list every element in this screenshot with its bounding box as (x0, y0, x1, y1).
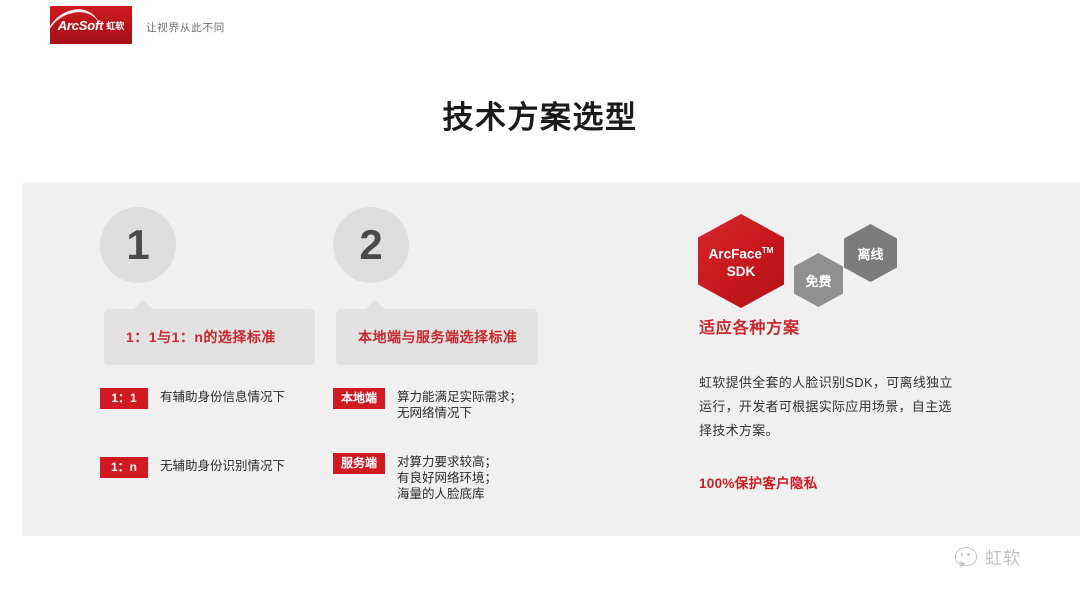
watermark-label: 虹软 (985, 544, 1021, 569)
hexagon-offline-label: 离线 (857, 244, 883, 263)
callout-box-1: 1：1与1：n的选择标准 (104, 309, 315, 365)
page-title: 技术方案选型 (0, 92, 1080, 137)
hexagon-sdk-line1: ArcFace (709, 247, 762, 262)
slide-header: ArcSoft 虹软 让视界从此不同 (0, 0, 1080, 56)
trademark-icon: TM (762, 246, 774, 255)
callout-box-2: 本地端与服务端选择标准 (336, 309, 538, 365)
privacy-note: 100%保护客户隐私 (699, 472, 818, 492)
right-body-text: 虹软提供全套的人脸识别SDK，可离线独立 运行，开发者可根据实际应用场景，自主选… (699, 371, 1004, 443)
callout-label-1: 1：1与1：n的选择标准 (104, 327, 276, 347)
callout-arrow-2 (364, 300, 386, 310)
criteria-text: 无辅助身份识别情况下 (160, 457, 285, 474)
criteria-text: 有辅助身份信息情况下 (160, 388, 285, 405)
company-tagline: 让视界从此不同 (146, 20, 225, 35)
criteria-badge: 服务端 (333, 453, 385, 474)
step-number-circle-1: 1 (100, 207, 176, 283)
criteria-row: 服务端 对算力要求较高； 有良好网络环境； 海量的人脸底库 (333, 453, 497, 502)
callout-arrow-1 (132, 300, 154, 310)
criteria-badge: 1：1 (100, 388, 148, 409)
slide-root: ArcSoft 虹软 让视界从此不同 技术方案选型 1 1：1与1：n的选择标准… (0, 0, 1080, 614)
step-number-circle-2: 2 (333, 207, 409, 283)
logo-chinese-name: 虹软 (106, 19, 124, 32)
logo-wordmark: ArcSoft (58, 18, 104, 33)
callout-label-2: 本地端与服务端选择标准 (336, 327, 518, 347)
step-number-1: 1 (126, 224, 149, 266)
criteria-badge: 1：n (100, 457, 148, 478)
wechat-icon (955, 547, 977, 566)
criteria-text: 算力能满足实际需求； 无网络情况下 (397, 388, 522, 421)
hexagon-sdk-label: ArcFaceTM SDK (709, 242, 774, 280)
right-heading: 适应各种方案 (699, 314, 800, 338)
criteria-text: 对算力要求较高； 有良好网络环境； 海量的人脸底库 (397, 453, 497, 502)
criteria-row: 本地端 算力能满足实际需求； 无网络情况下 (333, 388, 522, 421)
wechat-tail-icon (957, 561, 966, 569)
hexagon-free-label: 免费 (805, 271, 831, 290)
criteria-badge: 本地端 (333, 388, 385, 409)
wechat-watermark: 虹软 (955, 544, 1021, 569)
criteria-row: 1：1 有辅助身份信息情况下 (100, 388, 285, 409)
hexagon-sdk-line2: SDK (727, 264, 756, 279)
criteria-row: 1：n 无辅助身份识别情况下 (100, 457, 285, 478)
arcsoft-logo: ArcSoft 虹软 (50, 6, 132, 44)
step-number-2: 2 (359, 224, 382, 266)
